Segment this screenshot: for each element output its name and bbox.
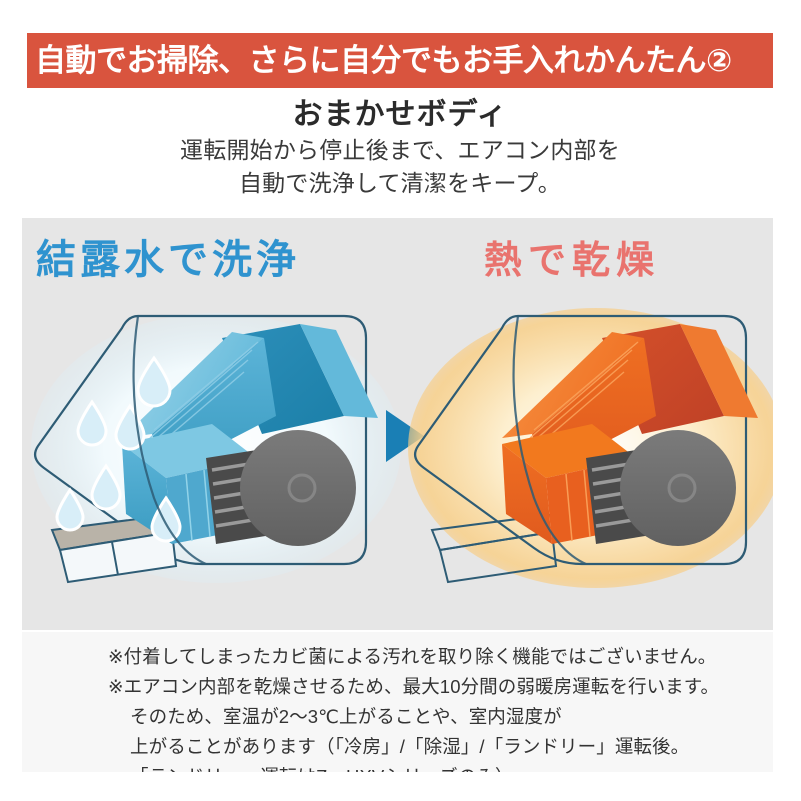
aircon-cutaway-blue-svg: [26, 298, 406, 598]
footnote-line: そのため、室温が2～3℃上がることや、室内湿度が: [108, 702, 773, 732]
footnote-line: 上がることがあります（「冷房」/「除湿」/「ランドリー」運転後。: [108, 732, 773, 762]
fan-end-cap: [240, 430, 356, 546]
aircon-cutaway-orange-svg: [406, 298, 773, 598]
footnotes-block: ※付着してしまったカビ菌による汚れを取り除く機能ではございません。 ※エアコン内…: [22, 632, 773, 772]
bottom-margin: [0, 772, 801, 801]
subtitle-line-2: 自動で洗浄して清潔をキープ。: [27, 167, 773, 200]
section-banner: 自動でお掃除、さらに自分でもお手入れかんたん②: [27, 33, 773, 88]
banner-title: 自動でお掃除、さらに自分でもお手入れかんたん②: [35, 45, 732, 76]
caption-wash-with-condensate: 結露水で洗浄: [36, 240, 300, 280]
subtitle-line-1: 運転開始から停止後まで、エアコン内部を: [27, 134, 773, 167]
illustration-heat-dry: [406, 298, 773, 603]
caption-dry-with-heat: 熱で乾燥: [484, 242, 660, 280]
heading-block: おまかせボディ 運転開始から停止後まで、エアコン内部を 自動で洗浄して清潔をキー…: [27, 96, 773, 200]
infographic-page: 自動でお掃除、さらに自分でもお手入れかんたん② おまかせボディ 運転開始から停止…: [0, 0, 801, 801]
page-title: おまかせボディ: [27, 96, 773, 134]
footnote-line: ※付着してしまったカビ菌による汚れを取り除く機能ではございません。: [108, 642, 773, 672]
illustration-panel: 結露水で洗浄 熱で乾燥: [22, 218, 773, 630]
footnote-line: ※エアコン内部を乾燥させるため、最大10分間の弱暖房運転を行います。: [108, 672, 773, 702]
fan-end-cap: [620, 430, 736, 546]
illustration-condensate-wash: [26, 298, 406, 603]
